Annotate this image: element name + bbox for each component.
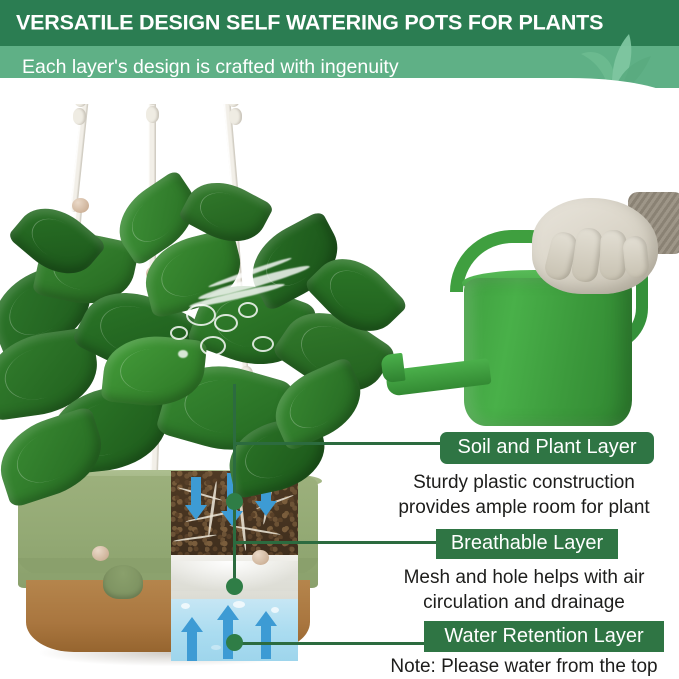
connector-line-breathable [234,541,440,544]
badge-soil-and-plant-layer[interactable]: Soil and Plant Layer [440,432,654,464]
infographic-root: VERSATILE DESIGN SELF WATERING POTS FOR … [0,0,679,679]
note-text: Note: Please water from the top [374,655,674,679]
desc-line: Mesh and hole helps with air [374,565,674,590]
water-retention-layer [171,599,298,661]
wooden-bead [252,550,269,565]
desc-line: provides ample room for plant [374,495,674,520]
desc-soil-and-plant-layer: Sturdy plastic construction provides amp… [374,470,674,520]
connector-line-soil [234,442,440,445]
wooden-bead [92,546,109,561]
desc-line: circulation and drainage [374,590,674,615]
badge-breathable-layer[interactable]: Breathable Layer [436,529,618,559]
watering-can [392,206,672,456]
pot-drainage-hole [103,565,143,599]
connector-dot-soil [226,493,243,510]
badge-water-retention-layer[interactable]: Water Retention Layer [424,621,664,652]
gardening-glove [532,198,658,294]
desc-breathable-layer: Mesh and hole helps with air circulation… [374,565,674,615]
page-title: VERSATILE DESIGN SELF WATERING POTS FOR … [16,11,603,36]
connector-dot-water [226,634,243,651]
can-body [464,278,632,426]
connector-line-water [234,642,440,645]
desc-line: Sturdy plastic construction [374,470,674,495]
can-spout-tip [380,353,405,383]
header-subtitle: Each layer's design is crafted with inge… [22,50,399,84]
connector-dot-breathable [226,578,243,595]
